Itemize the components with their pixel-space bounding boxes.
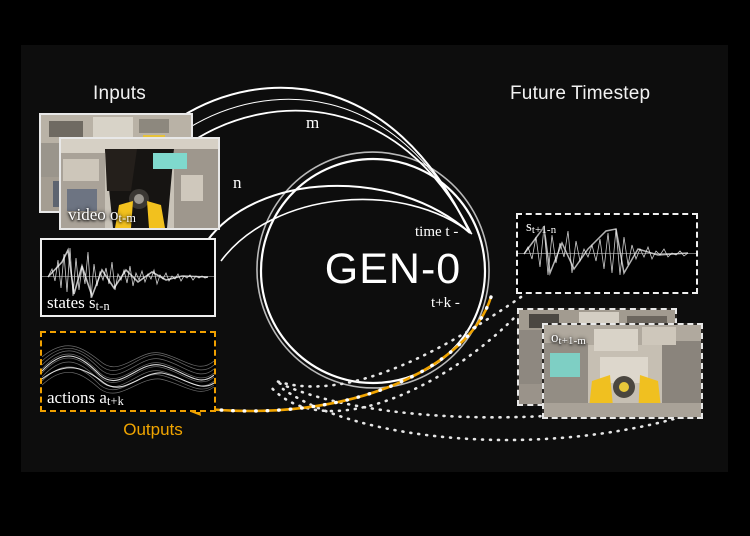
output-actions-label: actions at+k bbox=[47, 388, 124, 409]
output-actions-box: actions at+k bbox=[40, 331, 216, 412]
curve-label-t-plus-k: t+k - bbox=[431, 295, 460, 312]
curve-label-time-t: time t - bbox=[415, 224, 458, 241]
curve-label-m: m bbox=[306, 113, 319, 133]
output-path-dots bbox=[197, 297, 491, 411]
curve-label-n: n bbox=[233, 173, 242, 193]
future-timestep-header: Future Timestep bbox=[510, 83, 650, 105]
future-video-label-sub: o bbox=[551, 330, 559, 346]
curve-m-1 bbox=[181, 88, 469, 231]
future-states-label: st+1-n bbox=[526, 219, 556, 236]
future-video-frame-front: ot+1-m bbox=[542, 323, 703, 419]
input-states-label-sub: s bbox=[89, 293, 96, 312]
input-video-label-subscript: t-m bbox=[119, 211, 137, 225]
input-states-label: states st-n bbox=[47, 293, 110, 314]
output-actions-label-main: actions bbox=[47, 388, 95, 407]
input-video-label-sub: o bbox=[110, 205, 119, 224]
input-states-label-main: states bbox=[47, 293, 85, 312]
model-name: GEN-0 bbox=[273, 245, 513, 294]
input-video-frame-front: video ot-m bbox=[59, 137, 220, 230]
dotted-return-video-1 bbox=[269, 313, 519, 411]
future-states-label-subscript: t+1-n bbox=[532, 224, 556, 236]
output-actions-label-subscript: t+k bbox=[107, 394, 124, 408]
future-video-label-subscript: t+1-m bbox=[559, 335, 586, 347]
slide-stage: Inputs Future Timestep bbox=[0, 0, 750, 536]
output-path bbox=[197, 297, 491, 411]
future-video-label: ot+1-m bbox=[551, 330, 586, 347]
future-states-box: st+1-n bbox=[516, 213, 698, 294]
output-actions-label-sub: a bbox=[99, 388, 107, 407]
dotted-return-states bbox=[276, 297, 521, 386]
input-states-label-subscript: t-n bbox=[96, 299, 110, 313]
curve-m-3 bbox=[187, 99, 470, 232]
input-video-label-main: video bbox=[68, 205, 106, 224]
slide-canvas: Inputs Future Timestep bbox=[21, 45, 728, 472]
curve-m-2 bbox=[193, 111, 471, 233]
input-states-box: states st-n bbox=[40, 238, 216, 317]
inputs-header: Inputs bbox=[93, 83, 146, 105]
outputs-label: Outputs bbox=[78, 420, 228, 440]
input-video-label: video ot-m bbox=[68, 205, 136, 226]
